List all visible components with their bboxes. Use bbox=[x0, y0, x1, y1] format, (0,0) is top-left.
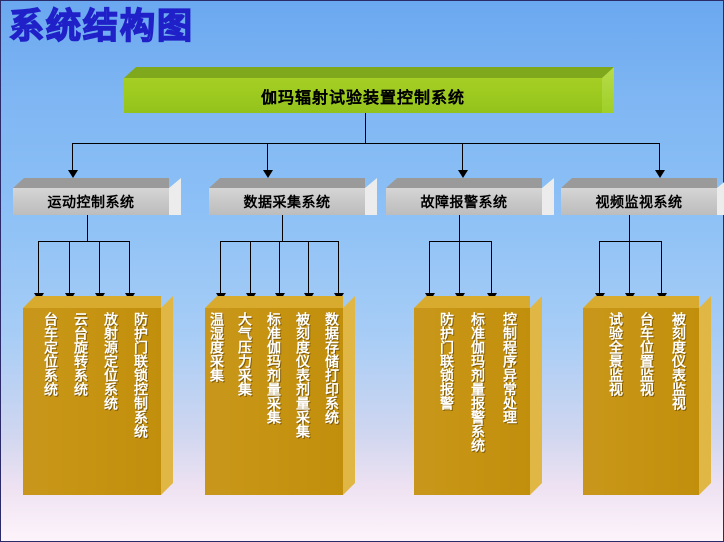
connector-g3-drop-2 bbox=[459, 241, 460, 295]
subsystem-label-1: 运动控制系统 bbox=[48, 192, 135, 212]
subsystem-node-4-side-face bbox=[717, 178, 724, 215]
connector-drop-4 bbox=[659, 143, 660, 172]
connector-g2-drop-4 bbox=[308, 241, 309, 295]
leaf-group-3-side-face bbox=[530, 296, 542, 495]
leaf-label-2-2: 被刻度仪表剂量采集 bbox=[294, 312, 309, 438]
leaf-label-3-2: 标准伽玛剂量报警系统 bbox=[469, 312, 484, 452]
arrow-subsystem-3 bbox=[458, 170, 468, 178]
leaf-label-1-4: 台车定位系统 bbox=[42, 312, 57, 396]
leaf-group-1[interactable]: 防护门联锁控制系统 放射源定位系统 云台旋转系统 台车定位系统 bbox=[23, 296, 173, 495]
root-node-top-face bbox=[124, 67, 614, 78]
root-node: 伽玛辐射试验装置控制系统 bbox=[124, 67, 614, 113]
connector-g4-bus bbox=[599, 241, 661, 242]
subsystem-node-2[interactable]: 数据采集系统 bbox=[209, 178, 377, 215]
connector-drop-1 bbox=[72, 143, 73, 172]
connector-g3-stem bbox=[459, 215, 460, 241]
leaf-label-1-2: 放射源定位系统 bbox=[102, 312, 117, 410]
leaf-label-4-2: 台车位置监视 bbox=[638, 312, 653, 396]
leaf-group-2-top-face bbox=[205, 296, 343, 308]
leaf-group-2-side-face bbox=[343, 296, 355, 495]
subsystem-node-2-side-face bbox=[365, 178, 377, 215]
leaf-group-1-top-face bbox=[23, 296, 161, 308]
connector-g2-drop-3 bbox=[279, 241, 280, 295]
root-node-label: 伽玛辐射试验装置控制系统 bbox=[261, 84, 465, 108]
subsystem-node-2-top-face bbox=[209, 178, 365, 188]
connector-g2-drop-5 bbox=[338, 241, 339, 295]
connector-g1-drop-1 bbox=[38, 241, 39, 295]
leaf-group-3[interactable]: 控制程序异常处理 标准伽玛剂量报警系统 防护门联锁报警 bbox=[414, 296, 542, 495]
subsystem-node-3[interactable]: 故障报警系统 bbox=[386, 178, 554, 215]
page-title: 系统结构图 bbox=[9, 7, 194, 47]
leaf-label-4-1: 被刻度仪表监视 bbox=[670, 312, 685, 410]
leaf-label-2-4: 大气压力采集 bbox=[236, 312, 251, 396]
connector-drop-3 bbox=[462, 143, 463, 172]
leaf-label-3-1: 控制程序异常处理 bbox=[501, 312, 516, 424]
subsystem-label-3: 故障报警系统 bbox=[421, 192, 508, 212]
subsystem-node-1[interactable]: 运动控制系统 bbox=[13, 178, 181, 215]
leaf-label-2-3: 标准伽玛剂量采集 bbox=[265, 312, 280, 424]
connector-g2-drop-1 bbox=[220, 241, 221, 295]
leaf-label-2-1: 数据存储打印系统 bbox=[323, 312, 338, 424]
leaf-group-2[interactable]: 数据存储打印系统 被刻度仪表剂量采集 标准伽玛剂量采集 大气压力采集 温湿度采集 bbox=[205, 296, 355, 495]
connector-g1-drop-4 bbox=[129, 241, 130, 295]
subsystem-label-4: 视频监视系统 bbox=[596, 192, 683, 212]
leaf-label-1-3: 云台旋转系统 bbox=[72, 312, 87, 396]
subsystem-node-1-top-face bbox=[13, 178, 169, 188]
subsystem-node-1-front-face: 运动控制系统 bbox=[13, 188, 169, 215]
subsystem-node-4-front-face: 视频监视系统 bbox=[561, 188, 717, 215]
leaf-group-4-side-face bbox=[699, 296, 711, 495]
leaf-group-3-top-face bbox=[414, 296, 530, 308]
leaf-label-2-5: 温湿度采集 bbox=[208, 312, 223, 382]
leaf-label-1-1: 防护门联锁控制系统 bbox=[132, 312, 147, 438]
connector-g2-drop-2 bbox=[250, 241, 251, 295]
connector-g2-stem bbox=[282, 215, 283, 241]
connector-g1-drop-3 bbox=[99, 241, 100, 295]
connector-g1-drop-2 bbox=[69, 241, 70, 295]
connector-g1-bus bbox=[38, 241, 129, 242]
subsystem-node-3-front-face: 故障报警系统 bbox=[386, 188, 542, 215]
leaf-label-4-3: 试验全景监视 bbox=[607, 312, 622, 396]
subsystem-node-3-side-face bbox=[542, 178, 554, 215]
connector-g4-stem bbox=[629, 215, 630, 241]
subsystem-label-2: 数据采集系统 bbox=[244, 192, 331, 212]
leaf-group-1-side-face bbox=[161, 296, 173, 495]
connector-g4-drop-2 bbox=[629, 241, 630, 295]
arrow-subsystem-1 bbox=[68, 170, 78, 178]
diagram-canvas: 系统结构图 伽玛辐射试验装置控制系统 运动控制系统 数据采集系统 bbox=[0, 0, 724, 542]
leaf-group-4[interactable]: 被刻度仪表监视 台车位置监视 试验全景监视 bbox=[583, 296, 711, 495]
connector-g4-drop-3 bbox=[661, 241, 662, 295]
connector-g3-bus bbox=[429, 241, 491, 242]
connector-root-stem bbox=[365, 113, 366, 143]
subsystem-node-4-top-face bbox=[561, 178, 717, 188]
leaf-label-3-3: 防护门联锁报警 bbox=[438, 312, 453, 410]
subsystem-node-3-top-face bbox=[386, 178, 542, 188]
connector-g3-drop-1 bbox=[429, 241, 430, 295]
root-node-front-face: 伽玛辐射试验装置控制系统 bbox=[124, 78, 602, 113]
subsystem-node-2-front-face: 数据采集系统 bbox=[209, 188, 365, 215]
connector-g3-drop-3 bbox=[491, 241, 492, 295]
connector-g4-drop-1 bbox=[599, 241, 600, 295]
subsystem-node-1-side-face bbox=[169, 178, 181, 215]
connector-root-bus bbox=[72, 143, 659, 144]
subsystem-node-4[interactable]: 视频监视系统 bbox=[561, 178, 724, 215]
arrow-subsystem-2 bbox=[263, 170, 273, 178]
arrow-subsystem-4 bbox=[655, 170, 665, 178]
connector-drop-2 bbox=[267, 143, 268, 172]
leaf-group-4-top-face bbox=[583, 296, 699, 308]
connector-g1-stem bbox=[87, 215, 88, 241]
